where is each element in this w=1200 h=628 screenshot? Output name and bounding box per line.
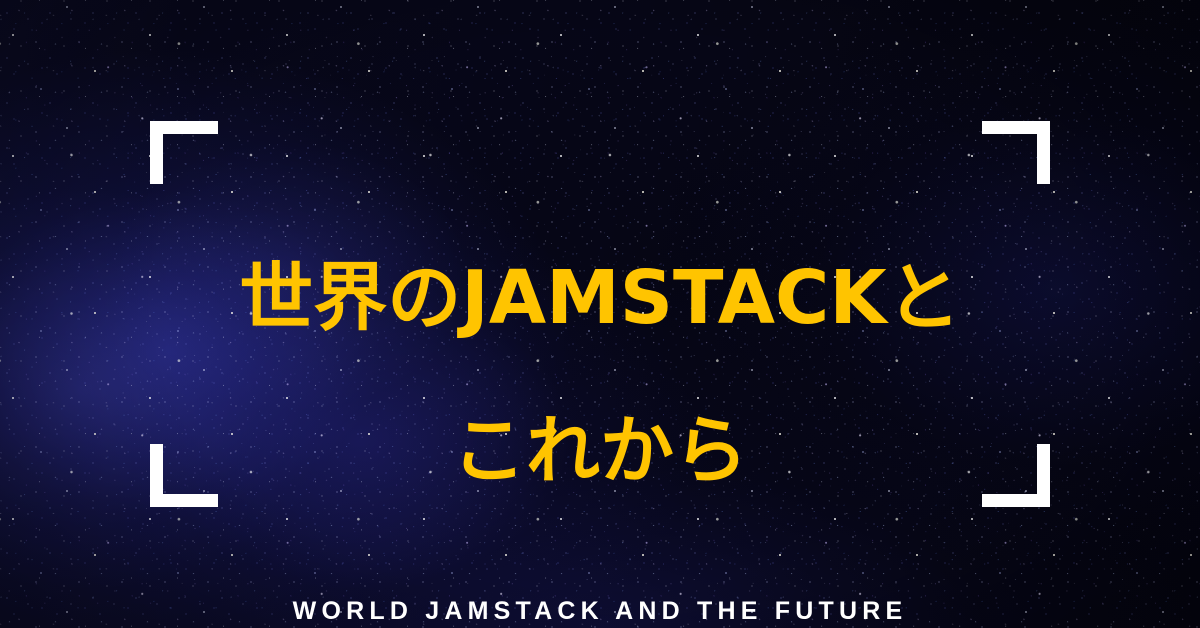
- banner-content: 世界のJAMSTACKと これから WORLD JAMSTACK AND THE…: [0, 0, 1200, 628]
- page-title: 世界のJAMSTACKと これから: [239, 0, 960, 565]
- presentation-title-banner: 世界のJAMSTACKと これから WORLD JAMSTACK AND THE…: [0, 0, 1200, 628]
- page-subtitle: WORLD JAMSTACK AND THE FUTURE: [293, 597, 908, 626]
- page-title-line-2: これから: [239, 414, 960, 489]
- page-title-line-1: 世界のJAMSTACKと: [239, 261, 960, 336]
